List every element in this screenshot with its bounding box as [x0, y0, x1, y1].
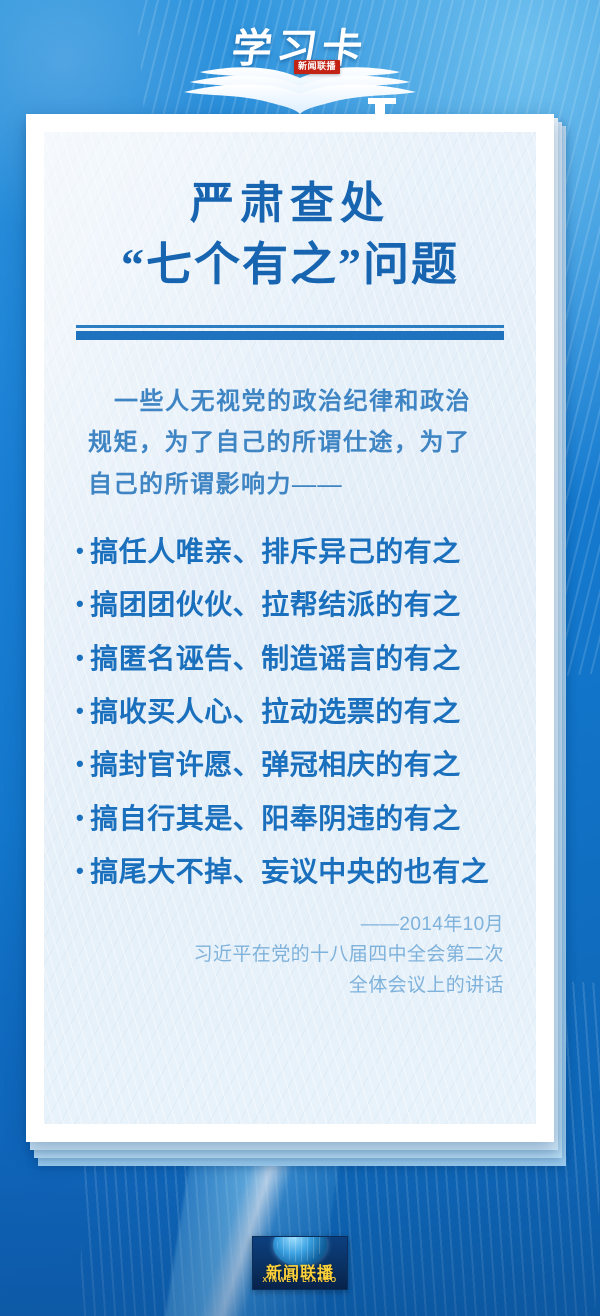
study-card: 严肃查处 “七个有之”问题 一些人无视党的政治纪律和政治规矩，为了自己的所谓仕途…	[26, 114, 554, 1142]
bullet-dot-icon: •	[76, 540, 84, 562]
bullet-dot-icon: •	[76, 753, 84, 775]
attribution-source-2: 全体会议上的讲话	[74, 971, 504, 1002]
list-item-label: 搞尾大不掉、妄议中央的也有之	[90, 856, 489, 887]
list-item: •搞任人唯亲、排斥异己的有之	[76, 536, 506, 567]
list-item: •搞自行其是、阳奉阴违的有之	[76, 803, 506, 834]
title-line-2: “七个有之”问题	[74, 236, 506, 295]
intro-paragraph: 一些人无视党的政治纪律和政治规矩，为了自己的所谓仕途，为了自己的所谓影响力——	[88, 382, 494, 506]
attribution-date: ——2014年10月	[74, 910, 504, 941]
bullet-dot-icon: •	[76, 593, 84, 615]
list-item-label: 搞封官许愿、弹冠相庆的有之	[90, 749, 461, 780]
divider-thick-rule	[76, 331, 504, 340]
list-item: •搞封官许愿、弹冠相庆的有之	[76, 749, 506, 780]
list-item-label: 搞收买人心、拉动选票的有之	[90, 696, 461, 727]
news-badge: 新闻联播	[294, 60, 340, 74]
list-item: •搞收买人心、拉动选票的有之	[76, 696, 506, 727]
bullet-dot-icon: •	[76, 807, 84, 829]
attribution: ——2014年10月 习近平在党的十八届四中全会第二次 全体会议上的讲话	[74, 910, 506, 1002]
background-bottom-shade	[0, 1146, 600, 1316]
list-item: •搞匿名诬告、制造谣言的有之	[76, 643, 506, 674]
title-line-1: 严肃查处	[74, 176, 506, 232]
attribution-source-1: 习近平在党的十八届四中全会第二次	[74, 940, 504, 971]
list-item-label: 搞任人唯亲、排斥异己的有之	[90, 536, 461, 567]
bullet-dot-icon: •	[76, 700, 84, 722]
header: 学习卡 新闻联播	[0, 0, 600, 120]
bullet-dot-icon: •	[76, 647, 84, 669]
brand-logo: 学习卡 新闻联播	[175, 16, 425, 116]
page-title: 严肃查处 “七个有之”问题	[74, 176, 506, 295]
list-item-label: 搞匿名诬告、制造谣言的有之	[90, 643, 461, 674]
xinwen-lianbo-logo: 新闻联播 XINWEN LIANBO	[252, 1236, 348, 1290]
list-item-label: 搞自行其是、阳奉阴违的有之	[90, 803, 461, 834]
quote-bullet-list: •搞任人唯亲、排斥异己的有之 •搞团团伙伙、拉帮结派的有之 •搞匿名诬告、制造谣…	[76, 536, 506, 888]
title-divider	[76, 325, 504, 340]
card-content: 严肃查处 “七个有之”问题 一些人无视党的政治纪律和政治规矩，为了自己的所谓仕途…	[44, 132, 536, 1124]
list-item: •搞尾大不掉、妄议中央的也有之	[76, 856, 506, 887]
logo-text-en: XINWEN LIANBO	[253, 1277, 347, 1284]
list-item-label: 搞团团伙伙、拉帮结派的有之	[90, 589, 461, 620]
bullet-dot-icon: •	[76, 860, 84, 882]
list-item: •搞团团伙伙、拉帮结派的有之	[76, 589, 506, 620]
